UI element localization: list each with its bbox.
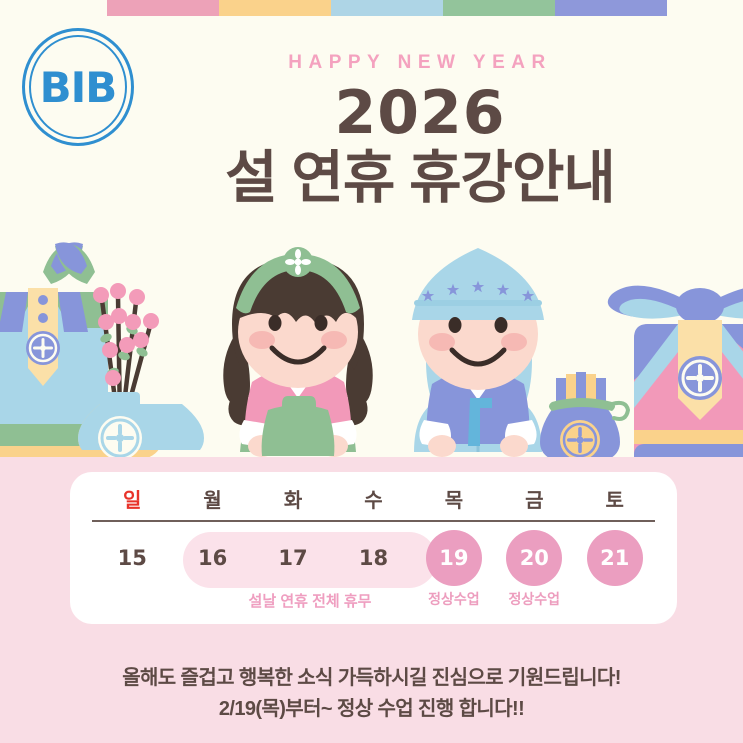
logo-text: BIB [22, 28, 134, 146]
calendar-cell-20[interactable]: 20 정상수업 [494, 530, 574, 609]
date-19: 19 [426, 530, 482, 586]
calendar-cell-21[interactable]: 21 [575, 530, 655, 609]
footer-message: 올해도 즐겁고 행복한 소식 가득하시길 진심으로 기원드립니다! 2/19(목… [0, 663, 743, 725]
date-17: 17 [265, 530, 321, 586]
day-header-tue: 화 [253, 484, 333, 513]
year-text: 2026 [140, 82, 700, 145]
date-21: 21 [587, 530, 643, 586]
date-18: 18 [345, 530, 401, 586]
calendar-divider [92, 520, 655, 522]
bar-yellow [219, 0, 331, 16]
holiday-range-label: 설날 연휴 전체 휴무 [183, 590, 437, 611]
page-title: 설 연휴 휴강안내 [140, 147, 700, 211]
eyebrow-text: HAPPY NEW YEAR [140, 52, 700, 74]
day-header-wed: 수 [333, 484, 413, 513]
day-header-fri: 금 [494, 484, 574, 513]
bar-green [443, 0, 555, 16]
footer-line-2: 2/19(목)부터~ 정상 수업 진행 합니다!! [0, 694, 743, 725]
bar-blue [331, 0, 443, 16]
calendar-cell-15[interactable]: 15 [92, 530, 172, 609]
calendar-day-headers: 일 월 화 수 목 금 토 [92, 484, 655, 513]
date-15: 15 [104, 530, 160, 586]
day-header-sun: 일 [92, 484, 172, 513]
note-20: 정상수업 [509, 589, 561, 609]
bib-logo: BIB [22, 28, 134, 146]
calendar-body: 15 16 17 18 19 정상수업 [92, 530, 655, 614]
date-20: 20 [506, 530, 562, 586]
bar-pink [107, 0, 219, 16]
poster-root: BIB HAPPY NEW YEAR 2026 설 연휴 휴강안내 [0, 0, 743, 743]
top-color-bars [107, 0, 667, 16]
day-header-thu: 목 [414, 484, 494, 513]
calendar-card: 일 월 화 수 목 금 토 15 16 17 [70, 472, 677, 624]
footer-line-1: 올해도 즐겁고 행복한 소식 가득하시길 진심으로 기원드립니다! [0, 663, 743, 694]
date-16: 16 [185, 530, 241, 586]
bar-purple [555, 0, 667, 16]
day-header-mon: 월 [172, 484, 252, 513]
day-header-sat: 토 [575, 484, 655, 513]
headline-block: HAPPY NEW YEAR 2026 설 연휴 휴강안내 [140, 52, 700, 211]
